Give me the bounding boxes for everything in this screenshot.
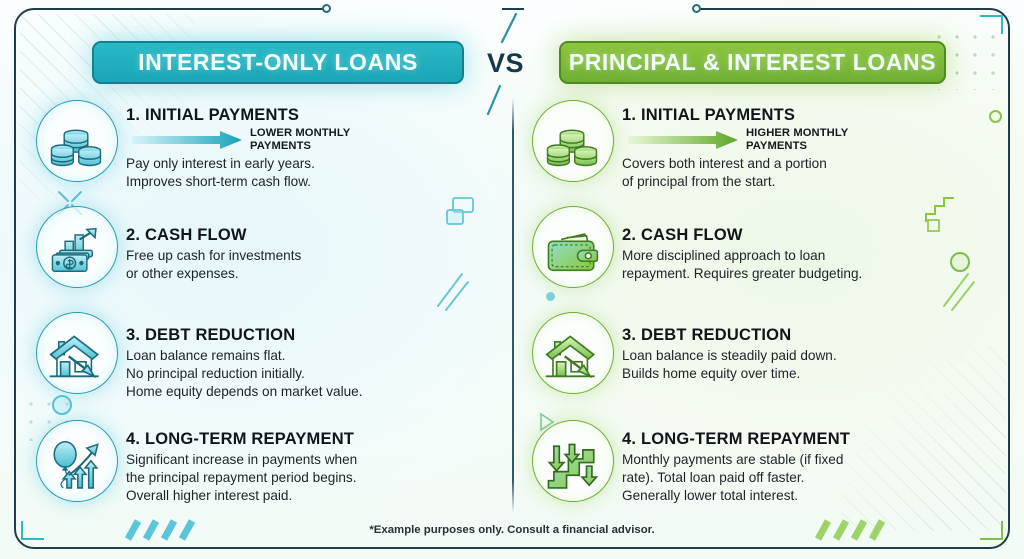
section-row: 3. DEBT REDUCTION Loan balance is steadi…: [522, 310, 1002, 410]
section-row: 2. CASH FLOW Free up cash for investment…: [26, 204, 506, 304]
section-row: 1. INITIAL PAYMENTS HIGHER MONTHLY PAYME…: [522, 98, 1002, 198]
section-text: 3. DEBT REDUCTION Loan balance remains f…: [126, 310, 506, 400]
descending-steps-icon: [543, 439, 601, 497]
section-title: 2. CASH FLOW: [126, 226, 506, 245]
icon-container: [522, 204, 622, 304]
right-arrow-icon: [132, 130, 242, 150]
section-row: 3. DEBT REDUCTION Loan balance remains f…: [26, 310, 506, 410]
section-row: 4. LONG-TERM REPAYMENT Significant incre…: [26, 418, 506, 518]
house-down-arrow-icon: [47, 331, 105, 389]
coin-stacks-icon: [47, 119, 105, 177]
section-body: Loan balance remains flat. No principal …: [126, 347, 506, 400]
frame-gap-left: [330, 4, 502, 12]
column-interest-only: 1. INITIAL PAYMENTS LOWER MONTHLY PAYMEN…: [26, 98, 506, 524]
section-title: 4. LONG-TERM REPAYMENT: [126, 430, 506, 449]
section-body: More disciplined approach to loan repaym…: [622, 247, 1002, 283]
column-divider: [512, 98, 514, 513]
section-title: 1. INITIAL PAYMENTS: [126, 106, 506, 125]
header-principal-interest: PRINCIPAL & INTEREST LOANS: [559, 41, 946, 84]
section-title: 1. INITIAL PAYMENTS: [622, 106, 1002, 125]
cash-growth-icon: [47, 225, 105, 283]
section-text: 2. CASH FLOW More disciplined approach t…: [622, 204, 1002, 283]
section-body: Pay only interest in early years. Improv…: [126, 155, 506, 191]
section-row: 2. CASH FLOW More disciplined approach t…: [522, 204, 1002, 304]
icon-container: [26, 98, 126, 198]
infographic-root: INTEREST-ONLY LOANS VS PRINCIPAL & INTER…: [0, 0, 1024, 559]
section-row: 4. LONG-TERM REPAYMENT Monthly payments …: [522, 418, 1002, 518]
frame-node-right: [692, 4, 701, 13]
section-text: 1. INITIAL PAYMENTS HIGHER MONTHLY PAYME…: [622, 98, 1002, 191]
column-principal-interest: 1. INITIAL PAYMENTS HIGHER MONTHLY PAYME…: [522, 98, 1002, 524]
section-body: Significant increase in payments when th…: [126, 451, 506, 504]
icon-container: [522, 98, 622, 198]
header-interest-only: INTEREST-ONLY LOANS: [92, 41, 464, 84]
section-title: 2. CASH FLOW: [622, 226, 1002, 245]
section-title: 4. LONG-TERM REPAYMENT: [622, 430, 1002, 449]
section-text: 1. INITIAL PAYMENTS LOWER MONTHLY PAYMEN…: [126, 98, 506, 191]
emphasis-arrow-label: HIGHER MONTHLY PAYMENTS: [746, 127, 848, 152]
emphasis-arrow-row: HIGHER MONTHLY PAYMENTS: [628, 127, 1002, 152]
section-title: 3. DEBT REDUCTION: [622, 326, 1002, 345]
section-body: Monthly payments are stable (if fixed ra…: [622, 451, 1002, 504]
frame-node-left: [322, 4, 331, 13]
icon-container: [26, 418, 126, 518]
emphasis-arrow-label: LOWER MONTHLY PAYMENTS: [250, 127, 350, 152]
frame-gap-right: [524, 4, 696, 12]
section-text: 4. LONG-TERM REPAYMENT Significant incre…: [126, 418, 506, 504]
section-text: 2. CASH FLOW Free up cash for investment…: [126, 204, 506, 283]
icon-container: [26, 310, 126, 410]
icon-container: [522, 310, 622, 410]
icon-container: [26, 204, 126, 304]
section-body: Loan balance is steadily paid down. Buil…: [622, 347, 1002, 383]
house-down-arrow-icon: [543, 331, 601, 389]
vs-label: VS: [487, 48, 524, 79]
header-principal-interest-label: PRINCIPAL & INTEREST LOANS: [569, 49, 936, 76]
section-body: Covers both interest and a portion of pr…: [622, 155, 1002, 191]
section-title: 3. DEBT REDUCTION: [126, 326, 506, 345]
wallet-icon: [543, 225, 601, 283]
section-body: Free up cash for investments or other ex…: [126, 247, 506, 283]
emphasis-arrow-row: LOWER MONTHLY PAYMENTS: [132, 127, 506, 152]
section-row: 1. INITIAL PAYMENTS LOWER MONTHLY PAYMEN…: [26, 98, 506, 198]
balloon-rising-arrows-icon: [47, 439, 105, 497]
corner-accent-top-right: [978, 14, 1004, 40]
coin-stacks-icon: [543, 119, 601, 177]
disclaimer-footnote: *Example purposes only. Consult a financ…: [0, 524, 1024, 536]
header-interest-only-label: INTEREST-ONLY LOANS: [138, 49, 418, 76]
right-arrow-icon: [628, 130, 738, 150]
section-text: 3. DEBT REDUCTION Loan balance is steadi…: [622, 310, 1002, 383]
section-text: 4. LONG-TERM REPAYMENT Monthly payments …: [622, 418, 1002, 504]
icon-container: [522, 418, 622, 518]
